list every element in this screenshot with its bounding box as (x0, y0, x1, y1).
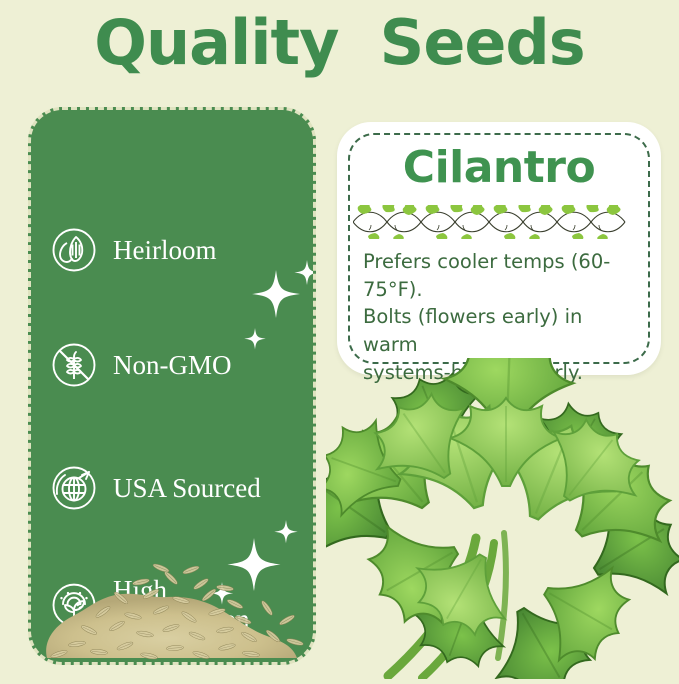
no-gmo-wheat-icon (49, 340, 99, 390)
seed-pile-image (29, 516, 316, 665)
product-graphic: Quality Seeds Heirloom (0, 0, 679, 679)
seeds-icon (49, 225, 99, 275)
feature-item-non-gmo: Non-GMO (49, 340, 232, 390)
feature-label: USA Sourced (113, 474, 261, 503)
page-title: Quality Seeds (0, 6, 679, 79)
feature-item-heirloom: Heirloom (49, 225, 216, 275)
ivy-vine-divider (353, 205, 645, 239)
feature-panel: Heirloom (28, 107, 316, 665)
card-title: Cilantro (337, 142, 661, 193)
globe-airplane-icon (49, 463, 99, 513)
info-card: Cilantro (337, 122, 661, 375)
cilantro-plant-image (326, 358, 679, 679)
feature-label: Heirloom (113, 236, 216, 265)
feature-item-usa-sourced: USA Sourced (49, 463, 261, 513)
feature-list: Heirloom (31, 110, 316, 550)
feature-label: Non-GMO (113, 351, 232, 380)
